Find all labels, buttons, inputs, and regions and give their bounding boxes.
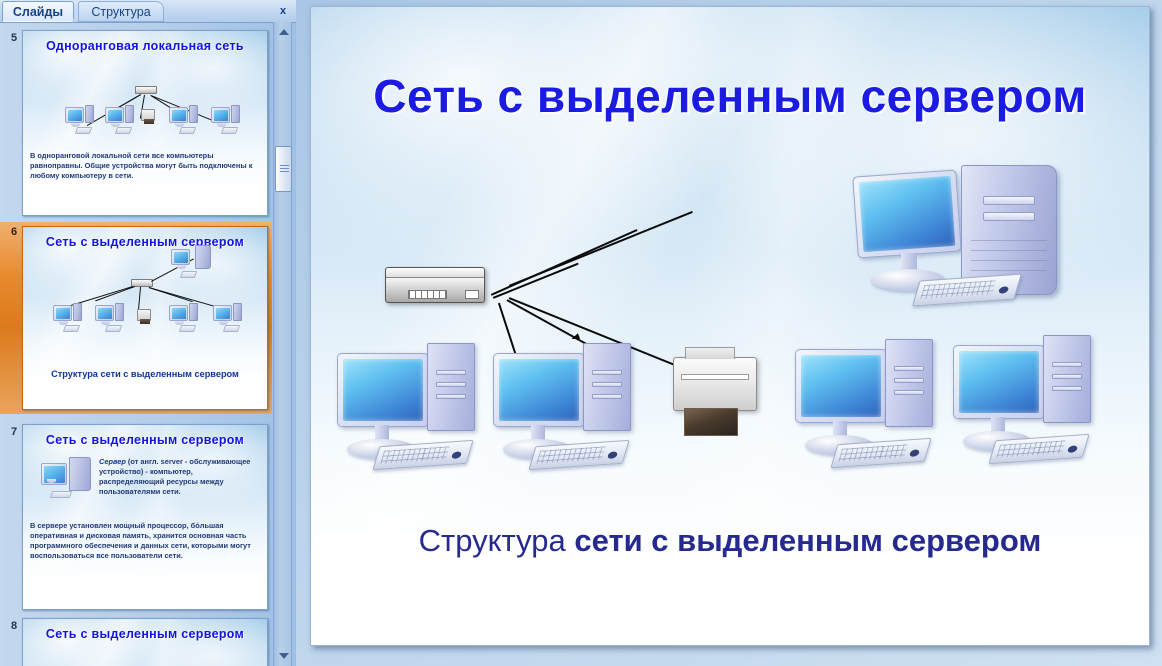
thumbnail-slide-8[interactable]: Сеть с выделенным сервером [22,618,268,666]
thumbnail-body-lead: Сервер [99,457,126,466]
mini-keyboard-icon [50,491,72,498]
mini-tower-icon [115,303,124,321]
mini-monitor-icon [169,107,188,123]
list-item-selected[interactable]: 6 Сеть с выделенным сервером [0,222,272,418]
thumbnail-number: 5 [6,32,22,44]
thumbnail-title: Сеть с выделенным сервером [23,627,267,641]
mini-monitor-icon [65,107,84,123]
link-hub-to-workstation-2 [493,263,579,299]
thumbnail-number: 6 [6,226,22,238]
current-slide[interactable]: Сеть с выделенным сервером [310,6,1150,646]
mini-monitor-icon [53,305,72,321]
mini-tower-icon [231,105,240,123]
thumbnail-title: Одноранговая локальная сеть [23,39,267,53]
mini-keyboard-icon [221,127,238,134]
list-item[interactable]: 8 Сеть с выделенным сервером [0,616,272,666]
thumbnail-title: Сеть с выделенным сервером [23,433,267,447]
scroll-up-arrow-icon[interactable] [275,24,292,40]
tab-slides[interactable]: Слайды [2,1,74,22]
mini-tower-icon [73,303,82,321]
mini-server-icon [195,245,211,269]
slides-outline-pane: Слайды Структура x 5 Одноранговая локаль… [0,0,296,666]
caption-bold-part: сети с выделенным сервером [574,523,1041,558]
mini-keyboard-icon [179,325,196,332]
thumbnail-body-text-2: В сервере установлен мощный процессор, б… [30,521,260,560]
mini-tower-icon [189,303,198,321]
mini-keyboard-icon [115,127,132,134]
tab-slides-label: Слайды [13,5,63,19]
scroll-down-arrow-icon[interactable] [275,648,292,664]
link-hub-to-server [509,211,693,287]
mini-keyboard-icon [63,325,80,332]
thumbnail-number: 8 [6,620,22,632]
mini-monitor-icon [171,249,190,265]
network-diagram [311,157,1150,507]
mini-keyboard-icon [179,127,196,134]
page-title: Сеть с выделенным сервером [311,69,1149,123]
pane-tabstrip: Слайды Структура x [0,0,296,23]
scrollbar-thumb[interactable] [275,146,292,192]
mini-tower-icon [125,105,134,123]
mini-monitor-icon [95,305,114,321]
mini-keyboard-icon [75,127,92,134]
mini-monitor-icon [213,305,232,321]
list-item[interactable]: 5 Одноранговая локальная сеть [0,28,272,220]
mini-monitor-icon [169,305,188,321]
slide-caption: Структура сети с выделенным сервером [311,523,1149,559]
mini-printer-icon [141,109,155,121]
mini-keyboard-icon [105,325,122,332]
thumbnail-title: Сеть с выделенным сервером [23,235,267,249]
mini-monitor-icon [41,463,67,485]
tab-outline[interactable]: Структура [78,1,164,22]
thumbnail-caption: Структура сети с выделенным сервером [23,369,267,379]
powerpoint-normal-view: Слайды Структура x 5 Одноранговая локаль… [0,0,1162,666]
list-item[interactable]: 7 Сеть с выделенным сервером Сервер (от … [0,422,272,614]
thumbnail-slide-5[interactable]: Одноранговая локальная сеть [22,30,268,216]
thumbnail-slide-7[interactable]: Сеть с выделенным сервером Сервер (от ан… [22,424,268,610]
mini-hub-icon [135,86,157,94]
thumbnail-body-text: В одноранговой локальной сети все компью… [30,151,260,181]
mini-tower-icon [85,105,94,123]
mini-printer-icon [137,309,151,321]
mini-keyboard-icon [180,271,197,278]
thumbnail-slide-6[interactable]: Сеть с выделенным сервером [22,226,268,410]
slide-thumbnail-list[interactable]: 5 Одноранговая локальная сеть [0,22,272,666]
mini-monitor-icon [211,107,230,123]
mini-keyboard-icon [223,325,240,332]
tab-outline-label: Структура [91,5,150,19]
thumbnail-number: 7 [6,426,22,438]
slide-editing-stage[interactable]: Сеть с выделенным сервером [296,0,1162,666]
mini-tower-icon [233,303,242,321]
mini-server-icon [69,457,91,491]
thumbnail-pane-scrollbar[interactable] [273,22,292,666]
thumbnail-background [23,425,267,609]
scrollbar-grip-icon [280,165,289,174]
mini-monitor-icon [105,107,124,123]
close-icon[interactable]: x [276,3,290,18]
mini-tower-icon [189,105,198,123]
network-hub-icon [385,267,485,303]
caption-light-part: Структура [419,523,566,558]
